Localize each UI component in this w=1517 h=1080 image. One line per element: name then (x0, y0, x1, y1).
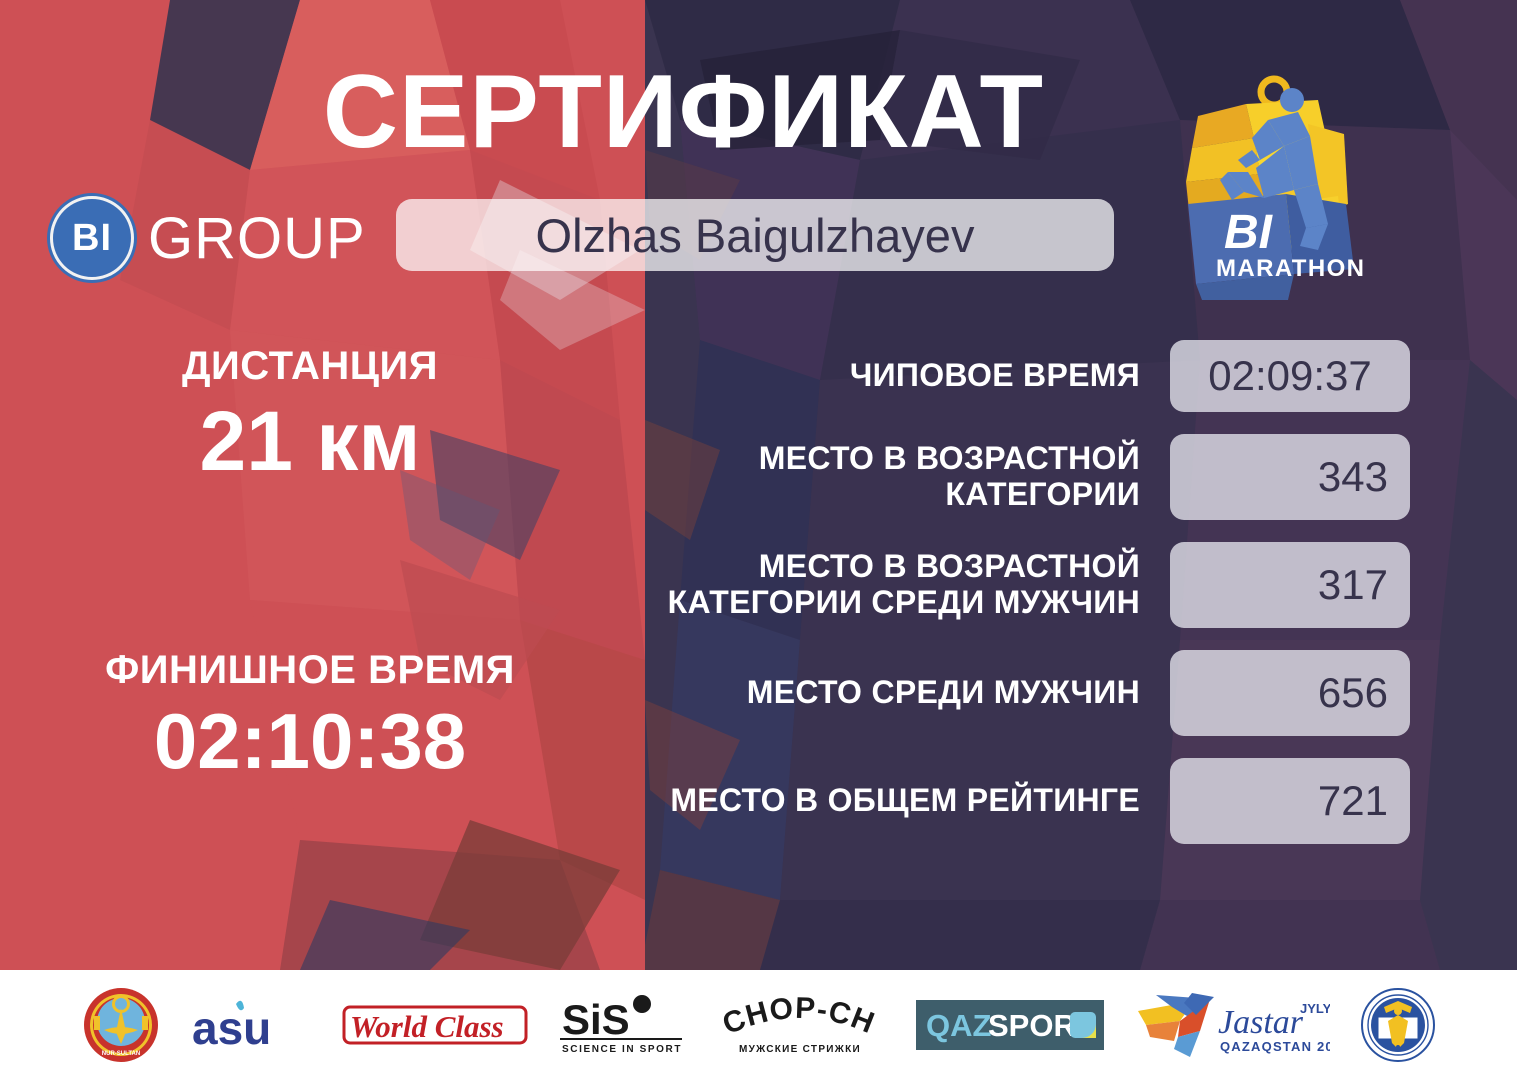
stat-value-men-place: 656 (1170, 650, 1410, 736)
jastar-jyly: JYLY (1300, 1001, 1330, 1016)
bi-mark-icon: BI (50, 196, 134, 280)
stat-row: ЧИПОВОЕ ВРЕМЯ 02:09:37 (600, 340, 1410, 412)
asu-wordmark: asu (192, 1002, 271, 1054)
world-class-wordmark: World Class (350, 1009, 504, 1044)
sponsor-ministry (1360, 982, 1436, 1068)
stat-value-age-category-men-place: 317 (1170, 542, 1410, 628)
finish-time-label: ФИНИШНОЕ ВРЕМЯ (70, 648, 550, 693)
stat-label-age-category-place: МЕСТО В ВОЗРАСТНОЙ КАТЕГОРИИ (600, 441, 1170, 513)
stat-label-chip-time: ЧИПОВОЕ ВРЕМЯ (600, 358, 1170, 394)
chop-chop-wordmark: CHOP-CHOP (714, 994, 880, 1041)
stat-label-men-place: МЕСТО СРЕДИ МУЖЧИН (600, 675, 1170, 711)
sis-tagline: SCIENCE IN SPORT (562, 1044, 682, 1055)
sis-wordmark: SiS (562, 996, 630, 1043)
finish-time-block: ФИНИШНОЕ ВРЕМЯ 02:10:38 (70, 648, 550, 785)
sponsor-qazsport: QAZ SPORT (916, 982, 1104, 1068)
sponsor-chop-chop: CHOP-CHOP МУЖСКИЕ СТРИЖКИ (714, 982, 886, 1068)
jastar-wordmark: Jastar (1218, 1004, 1304, 1041)
stat-row: МЕСТО В ВОЗРАСТНОЙ КАТЕГОРИИ СРЕДИ МУЖЧИ… (600, 542, 1410, 628)
stat-label-overall-place: МЕСТО В ОБЩЕМ РЕЙТИНГЕ (600, 783, 1170, 819)
qazsport-qaz: QAZ (926, 1008, 992, 1043)
chop-chop-tagline: МУЖСКИЕ СТРИЖКИ (738, 1044, 860, 1055)
svg-text:BI: BI (1224, 206, 1274, 259)
stat-row: МЕСТО В ВОЗРАСТНОЙ КАТЕГОРИИ 343 (600, 434, 1410, 520)
stat-row: МЕСТО В ОБЩЕМ РЕЙТИНГЕ 721 (600, 758, 1410, 844)
bi-group-logo: BI GROUP (50, 196, 366, 280)
finish-time-value: 02:10:38 (70, 699, 550, 785)
sponsor-nur-sultan: NUR-SULTAN (82, 982, 160, 1068)
stat-value-overall-place: 721 (1170, 758, 1410, 844)
nur-sultan-label: NUR-SULTAN (101, 1051, 139, 1057)
stat-value-chip-time: 02:09:37 (1170, 340, 1410, 412)
stat-row: МЕСТО СРЕДИ МУЖЧИН 656 (600, 650, 1410, 736)
bi-group-label: GROUP (148, 205, 366, 272)
bi-marathon-logo: BI MARATHON (1168, 64, 1380, 304)
participant-name: Olzhas Baigulzhayev (396, 199, 1114, 271)
certificate-canvas: СЕРТИФИКАТ BI GROUP Olzhas Baigulzhayev … (0, 0, 1517, 1080)
jastar-country-year: QAZAQSTAN 2019 (1220, 1039, 1330, 1054)
distance-value: 21 км (70, 395, 550, 487)
sponsor-sis: SiS SCIENCE IN SPORT (558, 982, 684, 1068)
stats-list: ЧИПОВОЕ ВРЕМЯ 02:09:37 МЕСТО В ВОЗРАСТНО… (600, 340, 1410, 866)
sponsor-world-class: World Class (342, 982, 528, 1068)
svg-text:MARATHON: MARATHON (1216, 255, 1365, 282)
stat-label-age-category-men-place: МЕСТО В ВОЗРАСТНОЙ КАТЕГОРИИ СРЕДИ МУЖЧИ… (600, 549, 1170, 621)
sponsor-asu: asu (190, 982, 312, 1068)
stat-value-age-category-place: 343 (1170, 434, 1410, 520)
sponsor-jastar: Jastar JYLY QAZAQSTAN 2019 (1134, 982, 1330, 1068)
distance-block: ДИСТАНЦИЯ 21 км (70, 344, 550, 487)
sponsor-bar: NUR-SULTAN asu World Class SiS SCIENCE I… (0, 970, 1517, 1080)
distance-label: ДИСТАНЦИЯ (70, 344, 550, 389)
